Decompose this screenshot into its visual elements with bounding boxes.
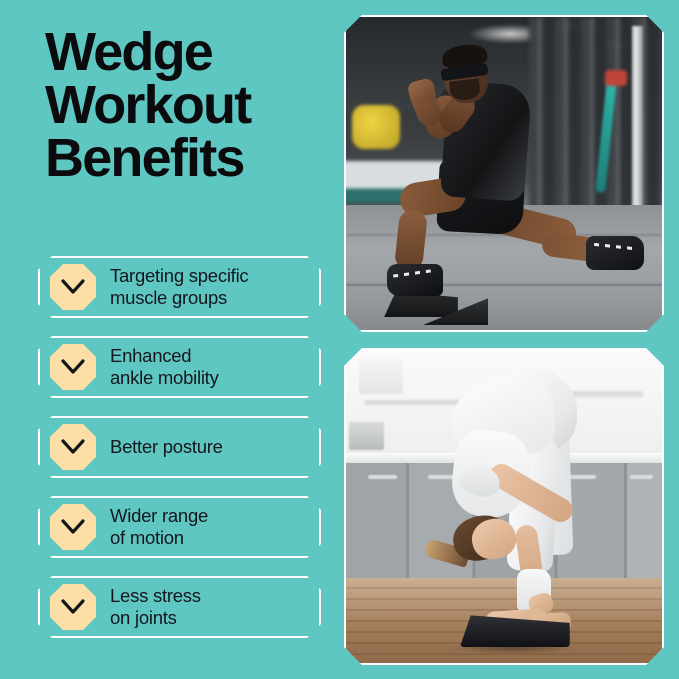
benefit-item-label: Better posture — [110, 436, 223, 458]
benefit-item-label: Less stress on joints — [110, 585, 201, 629]
photo-forward-fold-image — [346, 350, 662, 663]
athlete-front-shin — [394, 210, 428, 271]
photo-forward-fold — [344, 348, 664, 665]
gym-yellow-equipment — [352, 105, 400, 149]
photo-gym-lunge-image — [346, 17, 662, 330]
benefits-list: Targeting specific muscle groups Enhance… — [38, 256, 321, 656]
benefit-item-targeting-muscle-groups[interactable]: Targeting specific muscle groups — [38, 256, 321, 318]
benefit-item-label: Wider range of motion — [110, 505, 208, 549]
benefit-item-label: Enhanced ankle mobility — [110, 345, 219, 389]
athlete-front-shoe — [387, 264, 443, 296]
kitchen-upper-cabinet — [359, 359, 403, 393]
check-icon — [50, 584, 96, 630]
cabinet-handle — [630, 475, 652, 479]
check-icon — [50, 264, 96, 310]
benefit-item-label: Targeting specific muscle groups — [110, 265, 248, 309]
cabinet-handle — [368, 475, 396, 479]
benefit-item-better-posture[interactable]: Better posture — [38, 416, 321, 478]
benefit-item-wider-range-of-motion[interactable]: Wider range of motion — [38, 496, 321, 558]
cabinet-handle — [567, 475, 595, 479]
check-icon — [50, 424, 96, 470]
page-title: Wedge Workout Benefits — [45, 26, 335, 185]
gym-red-accessory — [605, 70, 627, 86]
benefit-item-ankle-mobility[interactable]: Enhanced ankle mobility — [38, 336, 321, 398]
photo-gym-lunge — [344, 15, 664, 332]
poster-root: Wedge Workout Benefits Targeting specifi… — [0, 0, 679, 679]
kitchen-microwave — [349, 422, 384, 450]
check-icon — [50, 344, 96, 390]
check-icon — [50, 504, 96, 550]
benefit-item-less-stress-on-joints[interactable]: Less stress on joints — [38, 576, 321, 638]
photo-column — [344, 15, 664, 665]
left-column: Wedge Workout Benefits Targeting specifi… — [0, 0, 336, 679]
athlete-rear-shoe — [586, 236, 644, 270]
